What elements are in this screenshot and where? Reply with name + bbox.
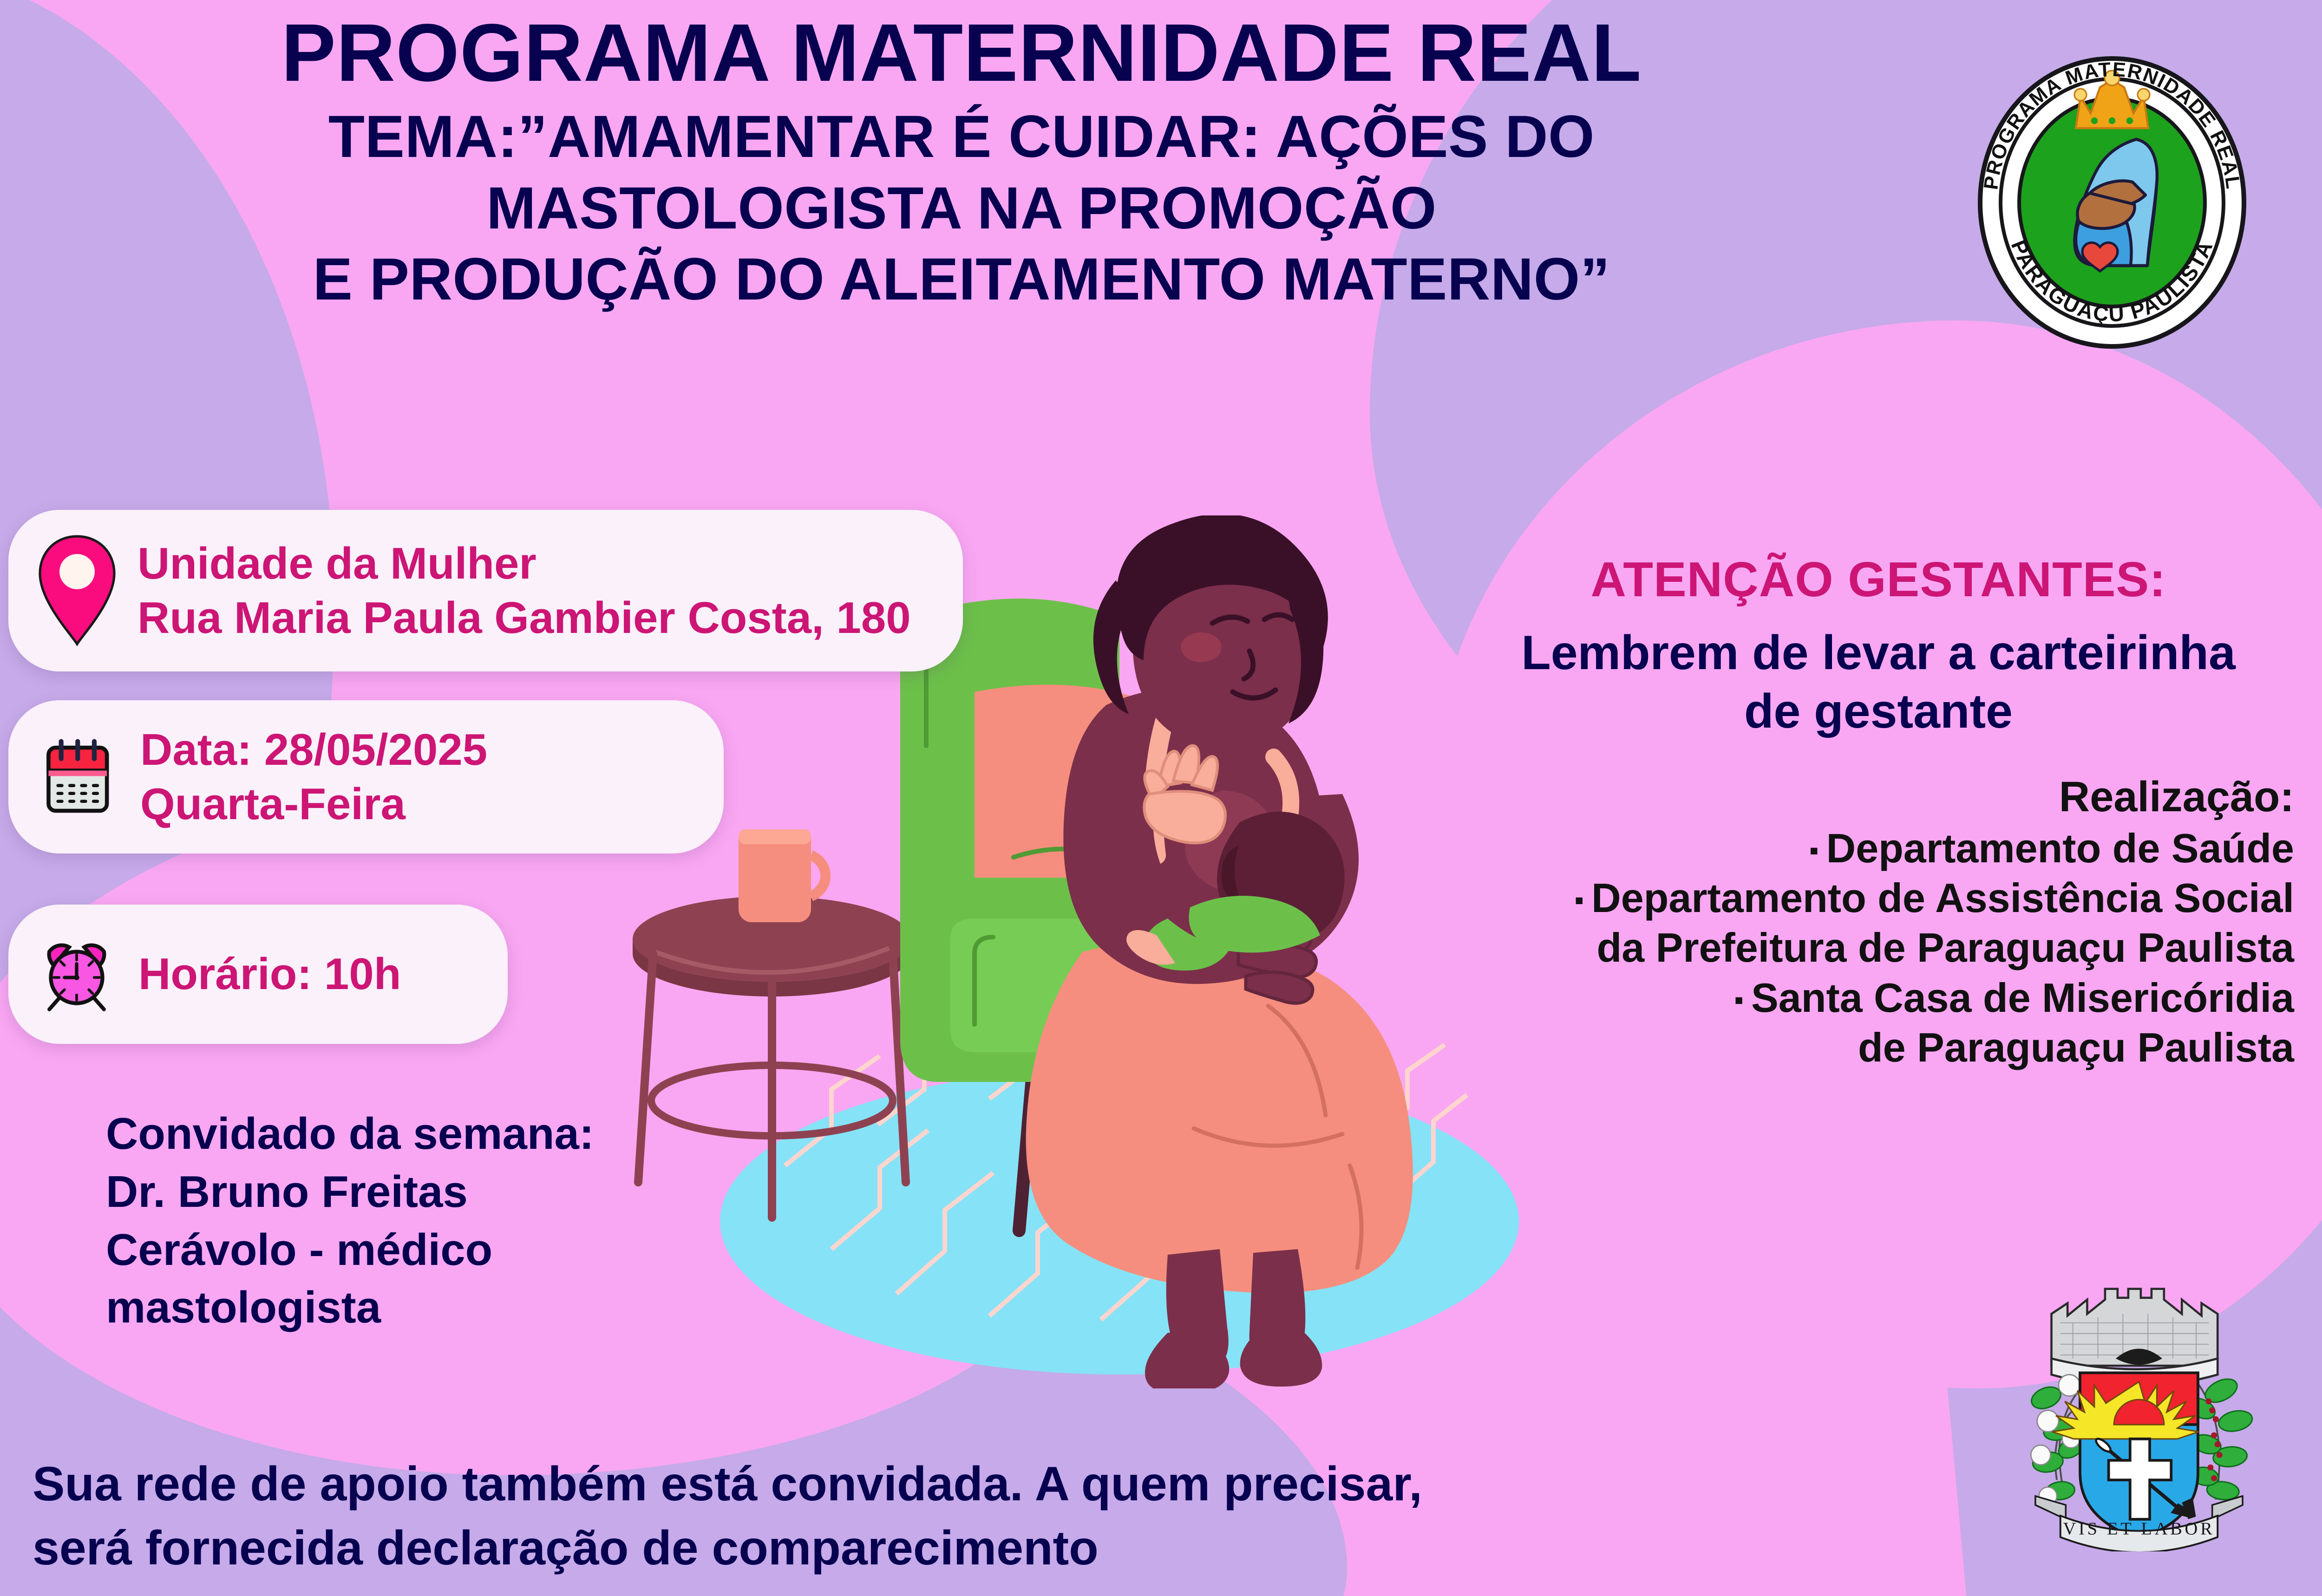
location-address: Rua Maria Paula Gambier Costa, 180 <box>137 591 911 645</box>
list-item: da Prefeitura de Paraguaçu Paulista <box>1463 923 2294 972</box>
location-card: Unidade da Mulher Rua Maria Paula Gambie… <box>8 510 963 671</box>
guest-label: Convidado da semana: <box>106 1105 710 1163</box>
guest-name-3: mastologista <box>106 1279 710 1337</box>
calendar-icon <box>39 735 118 819</box>
attention-body: Lembrem de levar a carteirinha de gestan… <box>1463 624 2294 742</box>
poster-canvas: PROGRAMA MATERNIDADE REAL TEMA:”AMAMENTA… <box>0 0 2322 1596</box>
program-logo-seal: PROGRAMA MATERNIDADE REAL PARAGUAÇU PAUL… <box>1963 39 2261 359</box>
list-item: Santa Casa de Misericóridia <box>1463 973 2294 1023</box>
realizacao-heading: Realização: <box>1463 771 2294 823</box>
poster-title-block: PROGRAMA MATERNIDADE REAL TEMA:”AMAMENTA… <box>0 12 1923 315</box>
realizacao-block: Realização: Departamento de Saúde Depart… <box>1463 771 2294 1072</box>
poster-subtitle: TEMA:”AMAMENTAR É CUIDAR: AÇÕES DO MASTO… <box>0 101 1923 315</box>
subtitle-line-3: E PRODUÇÃO DO ALEITAMENTO MATERNO” <box>0 244 1923 315</box>
city-coat-of-arms: VIS ET LABOR <box>2004 1273 2274 1551</box>
page-title: PROGRAMA MATERNIDADE REAL <box>0 12 1923 94</box>
realizacao-list: Departamento de Saúde Departamento de As… <box>1463 823 2294 1073</box>
location-name: Unidade da Mulher <box>137 536 911 591</box>
subtitle-line-2: MASTOLOGISTA NA PROMOÇÃO <box>0 173 1923 244</box>
time-card: Horário: 10h <box>8 905 508 1044</box>
event-weekday: Quarta-Feira <box>140 777 487 831</box>
guest-name-2: Cerávolo - médico <box>106 1221 710 1279</box>
bottom-note: Sua rede de apoio também está convidada.… <box>33 1453 1705 1580</box>
event-time: Horário: 10h <box>138 947 401 1001</box>
location-card-text: Unidade da Mulher Rua Maria Paula Gambie… <box>119 536 911 645</box>
bottom-note-line-1: Sua rede de apoio também está convidada.… <box>33 1453 1705 1516</box>
guest-of-the-week-block: Convidado da semana: Dr. Bruno Freitas C… <box>106 1105 710 1337</box>
maternidade-real-seal-icon: PROGRAMA MATERNIDADE REAL PARAGUAÇU PAUL… <box>1963 39 2261 359</box>
date-card: Data: 28/05/2025 Quarta-Feira <box>8 700 724 853</box>
list-item: Departamento de Saúde <box>1463 823 2294 873</box>
date-card-text: Data: 28/05/2025 Quarta-Feira <box>118 723 487 831</box>
list-item: Departamento de Assistência Social <box>1463 873 2294 923</box>
attention-line-1: Lembrem de levar a carteirinha <box>1463 624 2294 683</box>
attention-heading: ATENÇÃO GESTANTES: <box>1463 553 2294 607</box>
subtitle-line-1: TEMA:”AMAMENTAR É CUIDAR: AÇÕES DO <box>0 101 1923 173</box>
time-card-text: Horário: 10h <box>116 947 401 1001</box>
guest-name-1: Dr. Bruno Freitas <box>106 1163 710 1221</box>
coat-of-arms-motto: VIS ET LABOR <box>2063 1519 2215 1538</box>
list-item: de Paraguaçu Paulista <box>1463 1023 2294 1072</box>
event-date: Data: 28/05/2025 <box>140 723 487 777</box>
attention-line-2: de gestante <box>1463 682 2294 741</box>
alarm-clock-icon <box>37 934 116 1015</box>
bottom-note-line-2: será fornecida declaração de comparecime… <box>33 1517 1705 1580</box>
paraguacu-paulista-brasao-icon: VIS ET LABOR <box>2004 1273 2274 1551</box>
right-information-column: ATENÇÃO GESTANTES: Lembrem de levar a ca… <box>1463 553 2294 1072</box>
location-pin-icon <box>35 533 119 649</box>
